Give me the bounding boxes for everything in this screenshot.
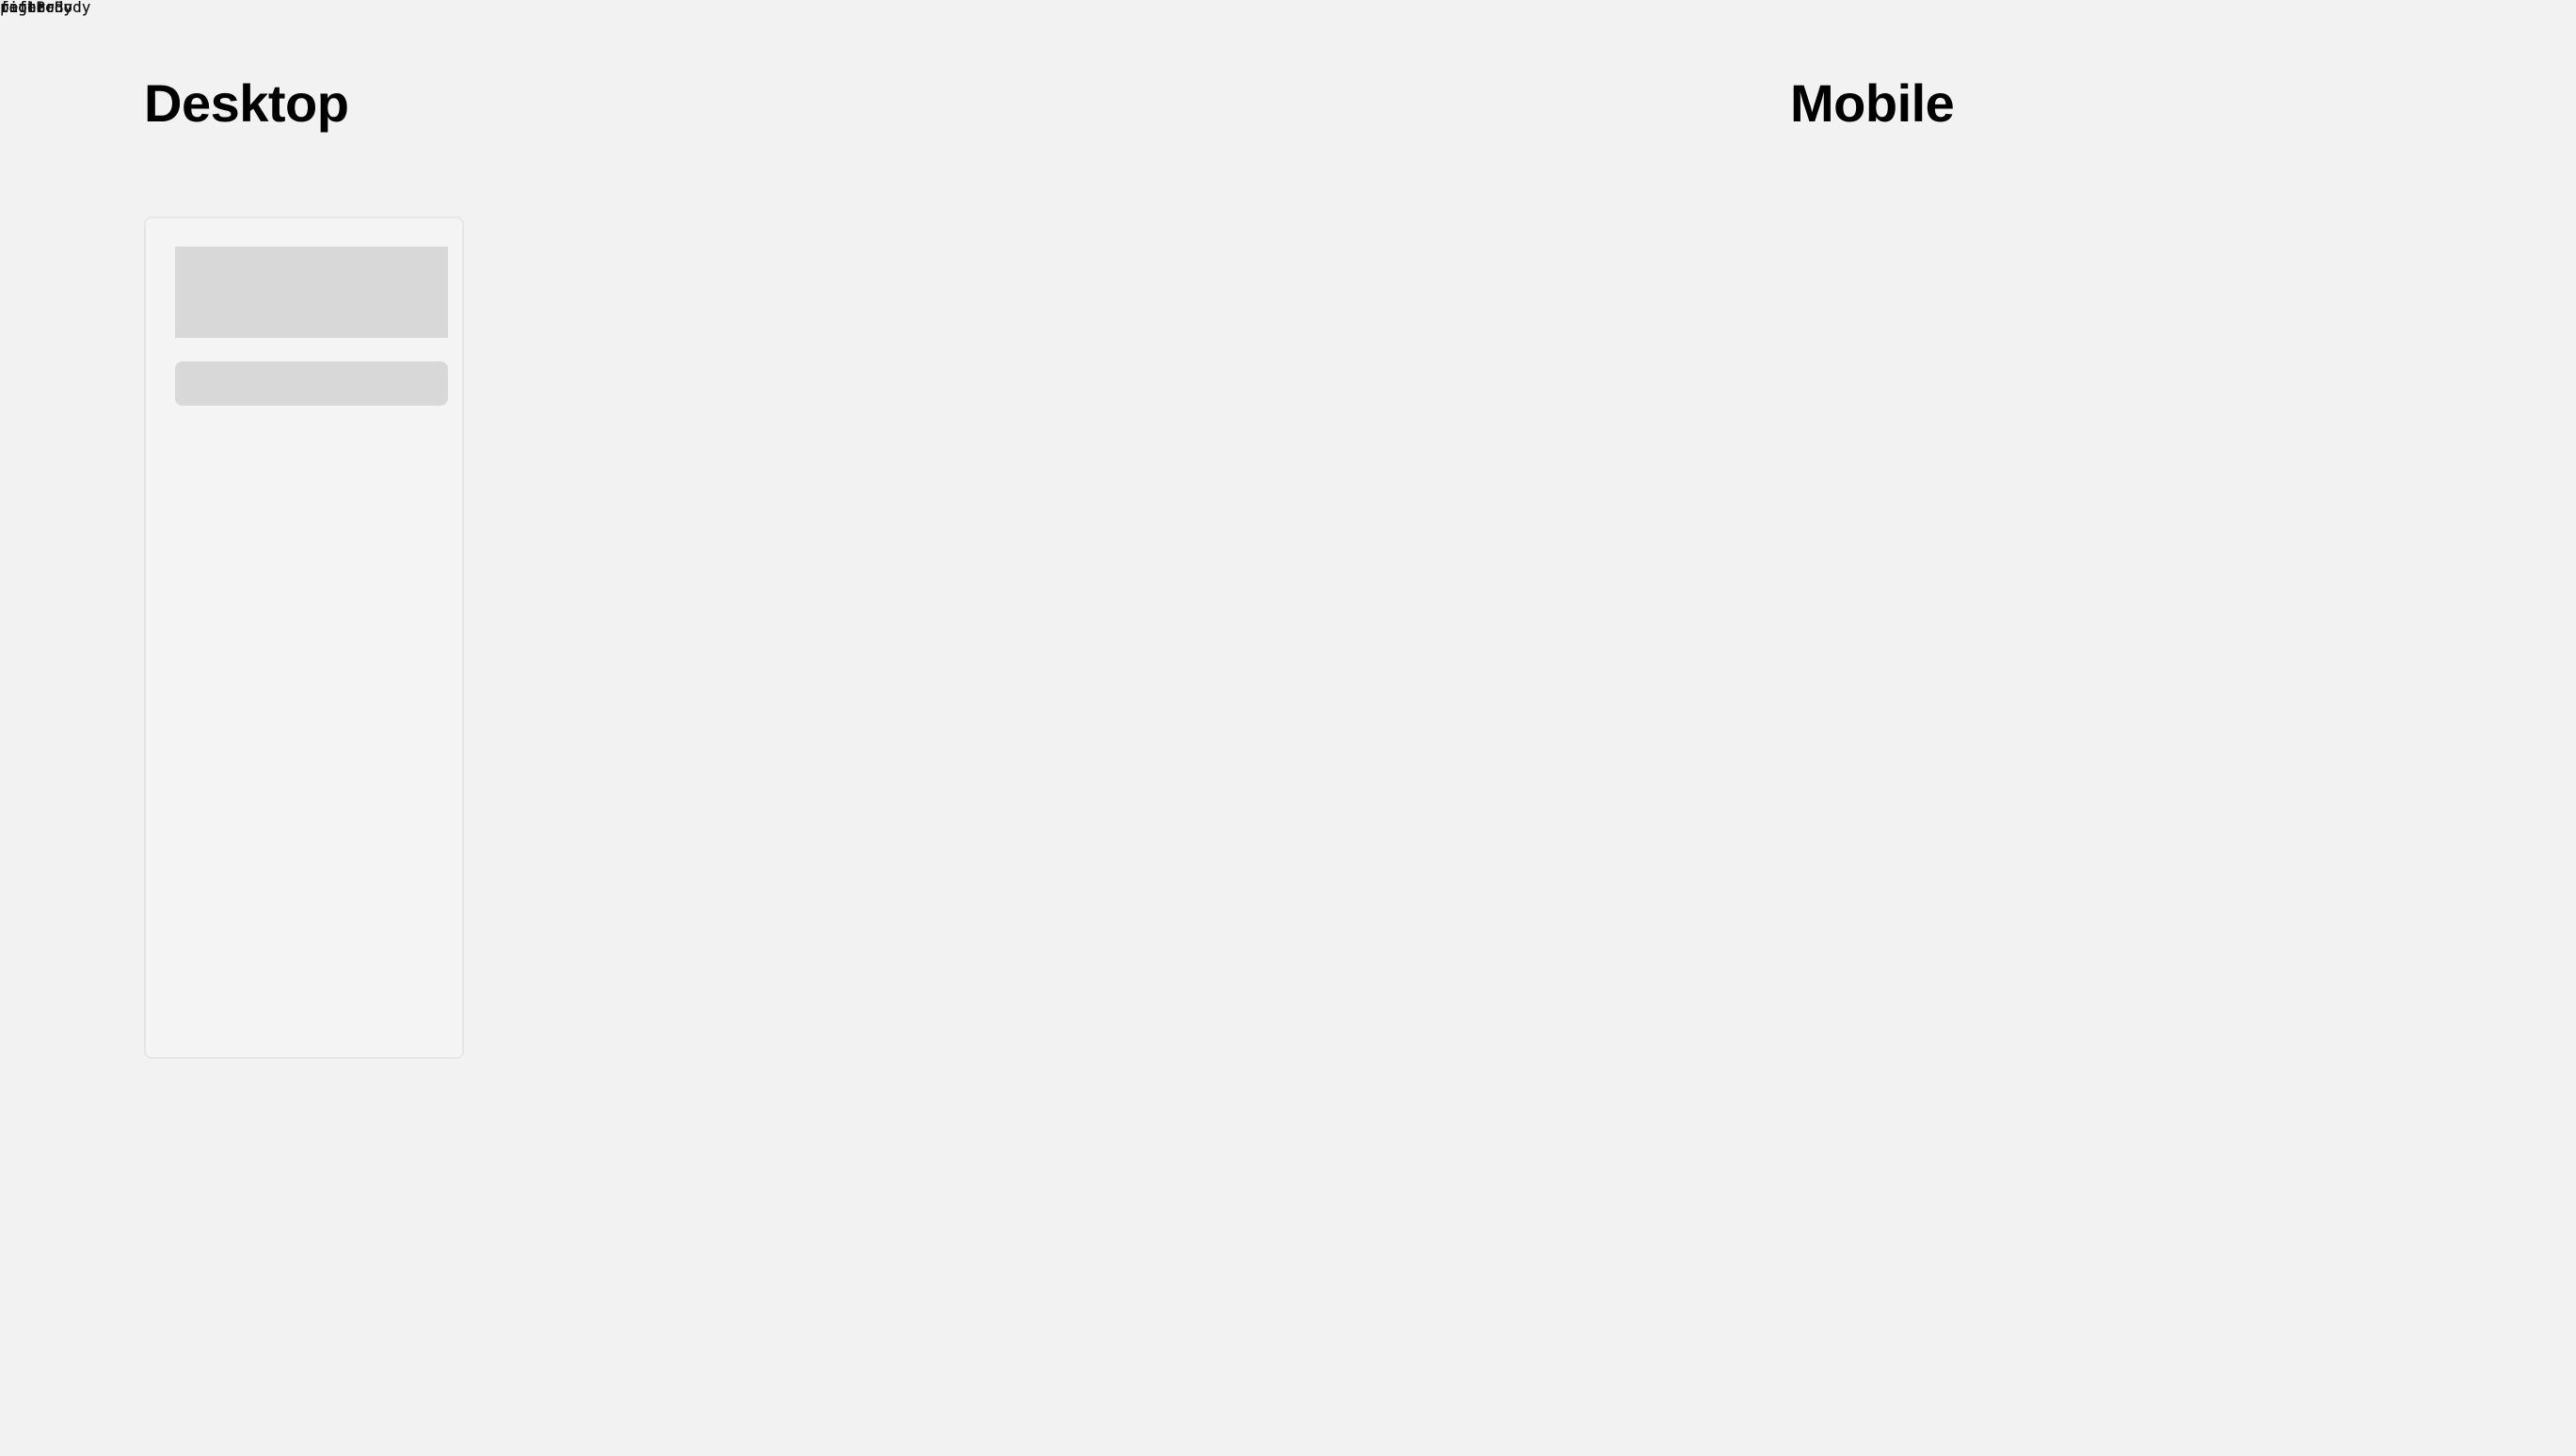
mobile-section-title: Mobile: [1790, 77, 1954, 130]
skeleton-block: [175, 247, 448, 338]
mobile-footer-slot-card[interactable]: [0, 0, 4, 4]
desktop-right-slot-label: right: [0, 0, 45, 15]
desktop-beforebody-slot-label: beforeBody: [0, 0, 90, 15]
desktop-left-slot-card[interactable]: [144, 216, 464, 1059]
desktop-pagebody-slot-label: pageBody: [0, 0, 72, 15]
desktop-section-title: Desktop: [144, 77, 348, 130]
mobile-pagebody-slot-label: pageBody: [0, 0, 72, 15]
mobile-right-slot-label: right: [0, 0, 45, 15]
mobile-footer-slot-label: footer: [0, 0, 55, 15]
desktop-left-slot-label: left: [0, 0, 37, 15]
mobile-beforebody-slot-label: beforeBody: [0, 0, 90, 15]
desktop-footer-slot-label: footer: [0, 0, 55, 15]
mobile-left-slot-label: left: [0, 0, 37, 15]
skeleton-bar: [175, 361, 448, 406]
